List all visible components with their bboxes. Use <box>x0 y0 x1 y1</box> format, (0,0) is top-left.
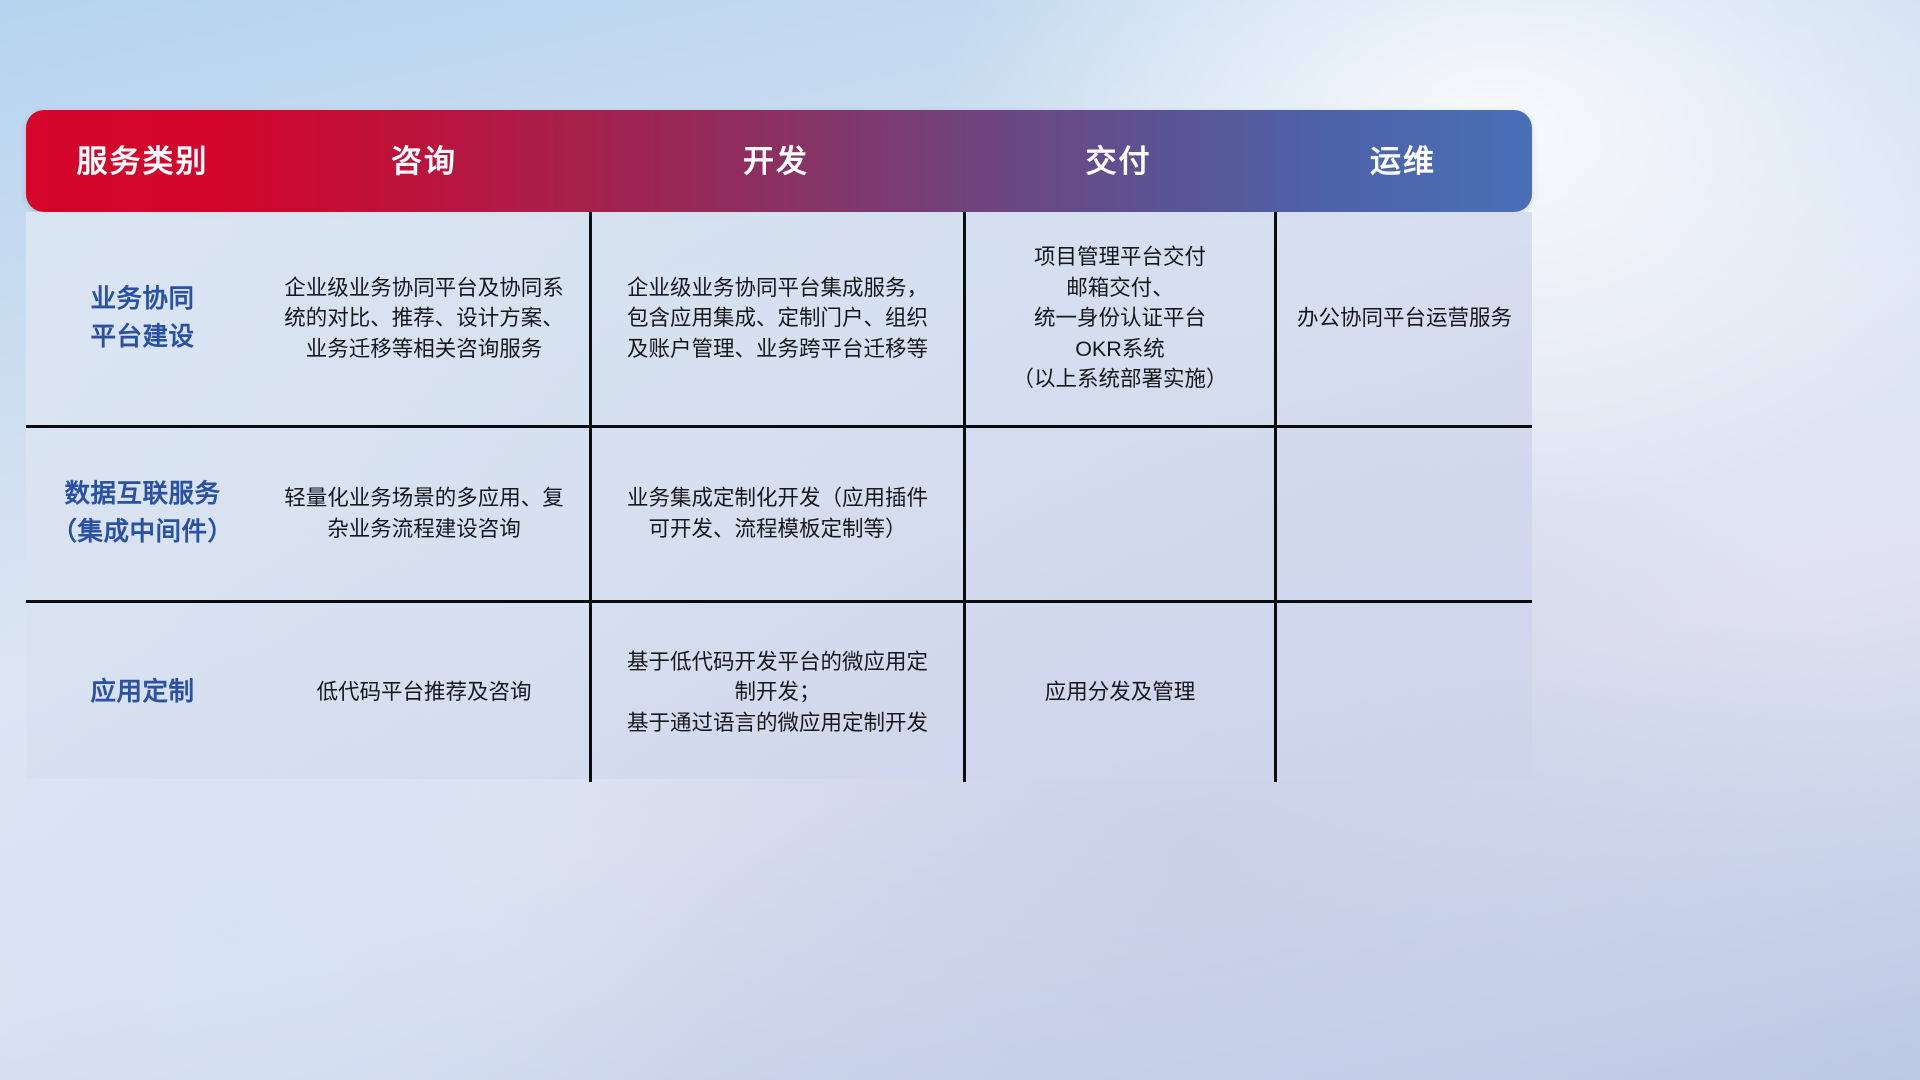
column-header-delivery: 交付 <box>963 146 1274 177</box>
table-row: 应用定制 低代码平台推荐及咨询 基于低代码开发平台的微应用定 制开发； 基于通过… <box>26 600 1532 782</box>
cell-consulting: 企业级业务协同平台及协同系 统的对比、推荐、设计方案、 业务迁移等相关咨询服务 <box>259 212 589 425</box>
cell-delivery: 项目管理平台交付 邮箱交付、 统一身份认证平台 OKR系统 （以上系统部署实施） <box>963 212 1274 425</box>
cell-operations: 办公协同平台运营服务 <box>1274 212 1532 425</box>
table-row: 数据互联服务 （集成中间件） 轻量化业务场景的多应用、复 杂业务流程建设咨询 业… <box>26 425 1532 600</box>
cell-delivery: 应用分发及管理 <box>963 603 1274 782</box>
cell-consulting: 轻量化业务场景的多应用、复 杂业务流程建设咨询 <box>259 428 589 600</box>
cell-delivery <box>963 428 1274 600</box>
table-body: 业务协同 平台建设 企业级业务协同平台及协同系 统的对比、推荐、设计方案、 业务… <box>26 212 1532 779</box>
column-header-operations: 运维 <box>1274 146 1532 177</box>
cell-operations <box>1274 428 1532 600</box>
column-header-development: 开发 <box>589 146 963 177</box>
table-header-row: 服务类别 咨询 开发 交付 运维 <box>26 110 1532 212</box>
row-category-label: 数据互联服务 （集成中间件） <box>26 428 259 600</box>
slide-canvas: 服务类别 咨询 开发 交付 运维 业务协同 平台建设 企业级业务协同平台及协同系… <box>0 0 1920 1080</box>
row-category-label: 应用定制 <box>26 603 259 782</box>
cell-operations <box>1274 603 1532 782</box>
column-header-consulting: 咨询 <box>259 146 589 177</box>
service-matrix-table: 服务类别 咨询 开发 交付 运维 业务协同 平台建设 企业级业务协同平台及协同系… <box>26 110 1532 779</box>
table-row: 业务协同 平台建设 企业级业务协同平台及协同系 统的对比、推荐、设计方案、 业务… <box>26 212 1532 425</box>
column-header-service-category: 服务类别 <box>26 146 259 177</box>
cell-development: 企业级业务协同平台集成服务， 包含应用集成、定制门户、组织 及账户管理、业务跨平… <box>589 212 963 425</box>
row-category-label: 业务协同 平台建设 <box>26 212 259 425</box>
cell-development: 基于低代码开发平台的微应用定 制开发； 基于通过语言的微应用定制开发 <box>589 603 963 782</box>
cell-consulting: 低代码平台推荐及咨询 <box>259 603 589 782</box>
cell-development: 业务集成定制化开发（应用插件 可开发、流程模板定制等） <box>589 428 963 600</box>
